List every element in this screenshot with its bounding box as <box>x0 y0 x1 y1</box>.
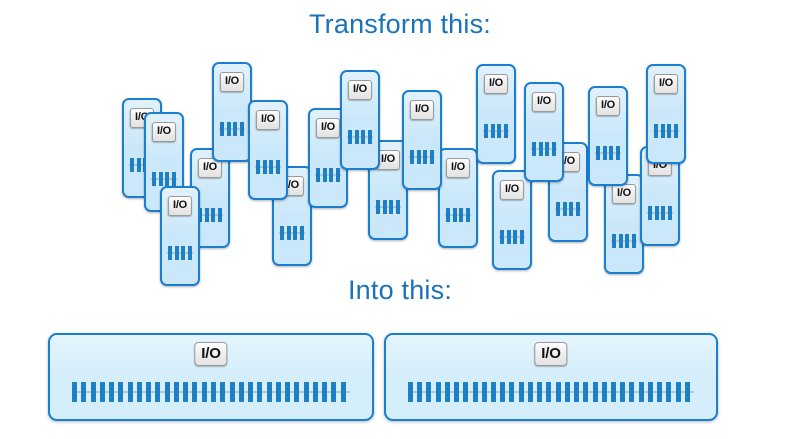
port-tick <box>172 172 176 186</box>
port-tick <box>336 168 340 182</box>
port-tick <box>417 150 421 164</box>
port-tick <box>304 382 309 402</box>
port-tick <box>159 172 163 186</box>
port-tick <box>504 124 508 138</box>
io-badge[interactable]: I/O <box>220 72 244 92</box>
port-tick <box>632 234 636 248</box>
port-tick <box>667 124 671 138</box>
port-tick <box>612 234 616 248</box>
result-box-right[interactable]: I/O <box>384 333 718 421</box>
port-tick <box>313 382 318 402</box>
port-tick <box>188 246 192 260</box>
port-tick <box>230 382 235 402</box>
port-tick <box>539 142 543 156</box>
port-tick <box>648 206 652 220</box>
port-tick <box>576 202 580 216</box>
io-card[interactable]: I/O <box>492 170 532 270</box>
port-tick <box>239 382 244 402</box>
port-tick <box>569 202 573 216</box>
port-tick <box>165 382 170 402</box>
port-tick <box>563 202 567 216</box>
port-tick <box>408 382 413 402</box>
io-badge[interactable]: I/O <box>500 180 524 200</box>
io-card[interactable]: I/O <box>212 62 252 162</box>
port-tick <box>552 142 556 156</box>
port-tick <box>263 160 267 174</box>
port-tick <box>491 382 496 402</box>
port-tick <box>181 246 185 260</box>
port-tick <box>220 122 224 136</box>
port-tick <box>463 382 468 402</box>
io-badge[interactable]: I/O <box>152 122 176 142</box>
io-port-strip <box>555 202 581 216</box>
port-tick <box>497 124 501 138</box>
port-tick <box>668 206 672 220</box>
port-tick <box>482 382 487 402</box>
port-tick <box>300 226 304 240</box>
port-tick <box>276 382 281 402</box>
port-tick <box>285 382 290 402</box>
io-badge[interactable]: I/O <box>612 184 636 204</box>
io-badge[interactable]: I/O <box>532 92 556 112</box>
port-tick <box>430 150 434 164</box>
io-card[interactable]: I/O <box>402 90 442 190</box>
port-tick <box>410 150 414 164</box>
io-card[interactable]: I/O <box>604 174 644 274</box>
io-badge[interactable]: I/O <box>596 96 620 116</box>
port-tick <box>685 382 690 402</box>
io-card[interactable]: I/O <box>340 70 380 170</box>
port-tick <box>602 382 607 402</box>
port-tick <box>280 226 284 240</box>
result-box-left[interactable]: I/O <box>48 333 374 421</box>
port-tick <box>205 208 209 222</box>
io-port-strip <box>409 150 435 164</box>
port-tick <box>417 382 422 402</box>
io-card[interactable]: I/O <box>476 64 516 164</box>
io-port-strip <box>197 208 223 222</box>
port-tick <box>389 200 393 214</box>
port-tick <box>174 382 179 402</box>
port-tick <box>500 230 504 244</box>
io-port-strip <box>151 172 177 186</box>
port-tick <box>220 382 225 402</box>
io-card[interactable]: I/O <box>524 82 564 182</box>
port-tick <box>666 382 671 402</box>
port-tick <box>248 382 253 402</box>
port-tick <box>454 382 459 402</box>
port-tick <box>609 146 613 160</box>
port-tick <box>168 246 172 260</box>
port-tick <box>322 382 327 402</box>
port-tick <box>175 246 179 260</box>
port-tick <box>137 158 141 172</box>
port-tick <box>509 382 514 402</box>
port-tick <box>513 230 517 244</box>
port-tick <box>348 130 352 144</box>
port-tick <box>368 130 372 144</box>
port-tick <box>118 382 123 402</box>
port-tick <box>211 382 216 402</box>
port-tick <box>146 382 151 402</box>
io-port-strip <box>315 168 341 182</box>
io-port-strip <box>611 234 637 248</box>
port-tick <box>453 208 457 222</box>
port-tick <box>293 226 297 240</box>
port-tick <box>519 382 524 402</box>
io-port-strip <box>647 206 673 220</box>
port-tick <box>473 382 478 402</box>
port-tick <box>445 382 450 402</box>
port-tick <box>625 234 629 248</box>
port-tick <box>137 382 142 402</box>
io-card[interactable]: I/O <box>160 186 200 286</box>
io-badge[interactable]: I/O <box>256 110 280 130</box>
io-card[interactable]: I/O <box>588 86 628 186</box>
port-tick <box>152 172 156 186</box>
port-tick <box>227 122 231 136</box>
port-tick <box>520 230 524 244</box>
illustration-canvas: Transform this: I/OI/OI/OI/OI/OI/OI/OI/O… <box>0 0 800 439</box>
io-badge[interactable]: I/O <box>410 100 434 120</box>
port-tick <box>396 200 400 214</box>
heading-into-this: Into this: <box>0 275 800 306</box>
port-tick <box>674 124 678 138</box>
port-tick <box>620 382 625 402</box>
port-tick <box>655 206 659 220</box>
port-tick <box>91 382 96 402</box>
port-tick <box>629 382 634 402</box>
port-tick <box>256 160 260 174</box>
port-tick <box>596 146 600 160</box>
io-port-strip <box>219 122 245 136</box>
port-tick <box>128 382 133 402</box>
port-tick <box>316 168 320 182</box>
io-port-strip <box>347 130 373 144</box>
port-tick <box>426 382 431 402</box>
io-badge[interactable]: I/O <box>446 158 470 178</box>
port-tick <box>603 146 607 160</box>
io-card[interactable]: I/O <box>646 64 686 164</box>
io-card[interactable]: I/O <box>438 148 478 248</box>
port-tick <box>192 382 197 402</box>
io-badge[interactable]: I/O <box>348 80 372 100</box>
port-tick <box>376 200 380 214</box>
io-port-strip <box>72 382 350 402</box>
port-tick <box>545 142 549 156</box>
port-tick <box>72 382 77 402</box>
port-tick <box>183 382 188 402</box>
io-port-strip <box>483 124 509 138</box>
port-tick <box>331 382 336 402</box>
io-port-strip <box>445 208 471 222</box>
port-tick <box>676 382 681 402</box>
port-tick <box>383 200 387 214</box>
port-tick <box>546 382 551 402</box>
port-tick <box>240 122 244 136</box>
port-tick <box>81 382 86 402</box>
port-tick <box>491 124 495 138</box>
port-tick <box>661 124 665 138</box>
port-tick <box>323 168 327 182</box>
port-tick <box>218 208 222 222</box>
io-port-strip <box>279 226 305 240</box>
port-tick <box>500 382 505 402</box>
port-tick <box>616 146 620 160</box>
io-badge[interactable]: I/O <box>484 74 508 94</box>
port-tick <box>165 172 169 186</box>
port-tick <box>574 382 579 402</box>
port-tick <box>593 382 598 402</box>
port-tick <box>329 168 333 182</box>
port-tick <box>355 130 359 144</box>
io-port-strip <box>499 230 525 244</box>
port-tick <box>130 158 134 172</box>
port-tick <box>639 382 644 402</box>
io-port-strip <box>167 246 193 260</box>
port-tick <box>484 124 488 138</box>
io-port-strip <box>531 142 557 156</box>
scattered-card-cluster: I/OI/OI/OI/OI/OI/OI/OI/OI/OI/OI/OI/OI/OI… <box>0 0 800 290</box>
port-tick <box>109 382 114 402</box>
port-tick <box>657 382 662 402</box>
port-tick <box>100 382 105 402</box>
port-tick <box>661 206 665 220</box>
port-tick <box>436 382 441 402</box>
port-tick <box>537 382 542 402</box>
port-tick <box>532 142 536 156</box>
io-port-strip <box>375 200 401 214</box>
port-tick <box>155 382 160 402</box>
port-tick <box>459 208 463 222</box>
io-badge[interactable]: I/O <box>194 342 227 366</box>
port-tick <box>269 160 273 174</box>
io-port-strip <box>653 124 679 138</box>
port-tick <box>361 130 365 144</box>
port-tick <box>611 382 616 402</box>
port-tick <box>341 382 346 402</box>
port-tick <box>654 124 658 138</box>
port-tick <box>287 226 291 240</box>
port-tick <box>423 150 427 164</box>
port-tick <box>257 382 262 402</box>
io-port-strip <box>595 146 621 160</box>
port-tick <box>276 160 280 174</box>
port-tick <box>233 122 237 136</box>
io-port-strip <box>408 382 694 402</box>
port-tick <box>648 382 653 402</box>
port-tick <box>446 208 450 222</box>
port-tick <box>556 202 560 216</box>
port-tick <box>556 382 561 402</box>
port-tick <box>528 382 533 402</box>
io-badge[interactable]: I/O <box>316 118 340 138</box>
port-tick <box>267 382 272 402</box>
port-tick <box>202 382 207 402</box>
port-tick <box>466 208 470 222</box>
port-tick <box>294 382 299 402</box>
port-tick <box>507 230 511 244</box>
io-port-strip <box>255 160 281 174</box>
io-badge[interactable]: I/O <box>654 74 678 94</box>
io-card[interactable]: I/O <box>248 100 288 200</box>
port-tick <box>565 382 570 402</box>
io-badge[interactable]: I/O <box>534 342 567 366</box>
port-tick <box>619 234 623 248</box>
io-badge[interactable]: I/O <box>168 196 192 216</box>
port-tick <box>583 382 588 402</box>
port-tick <box>211 208 215 222</box>
